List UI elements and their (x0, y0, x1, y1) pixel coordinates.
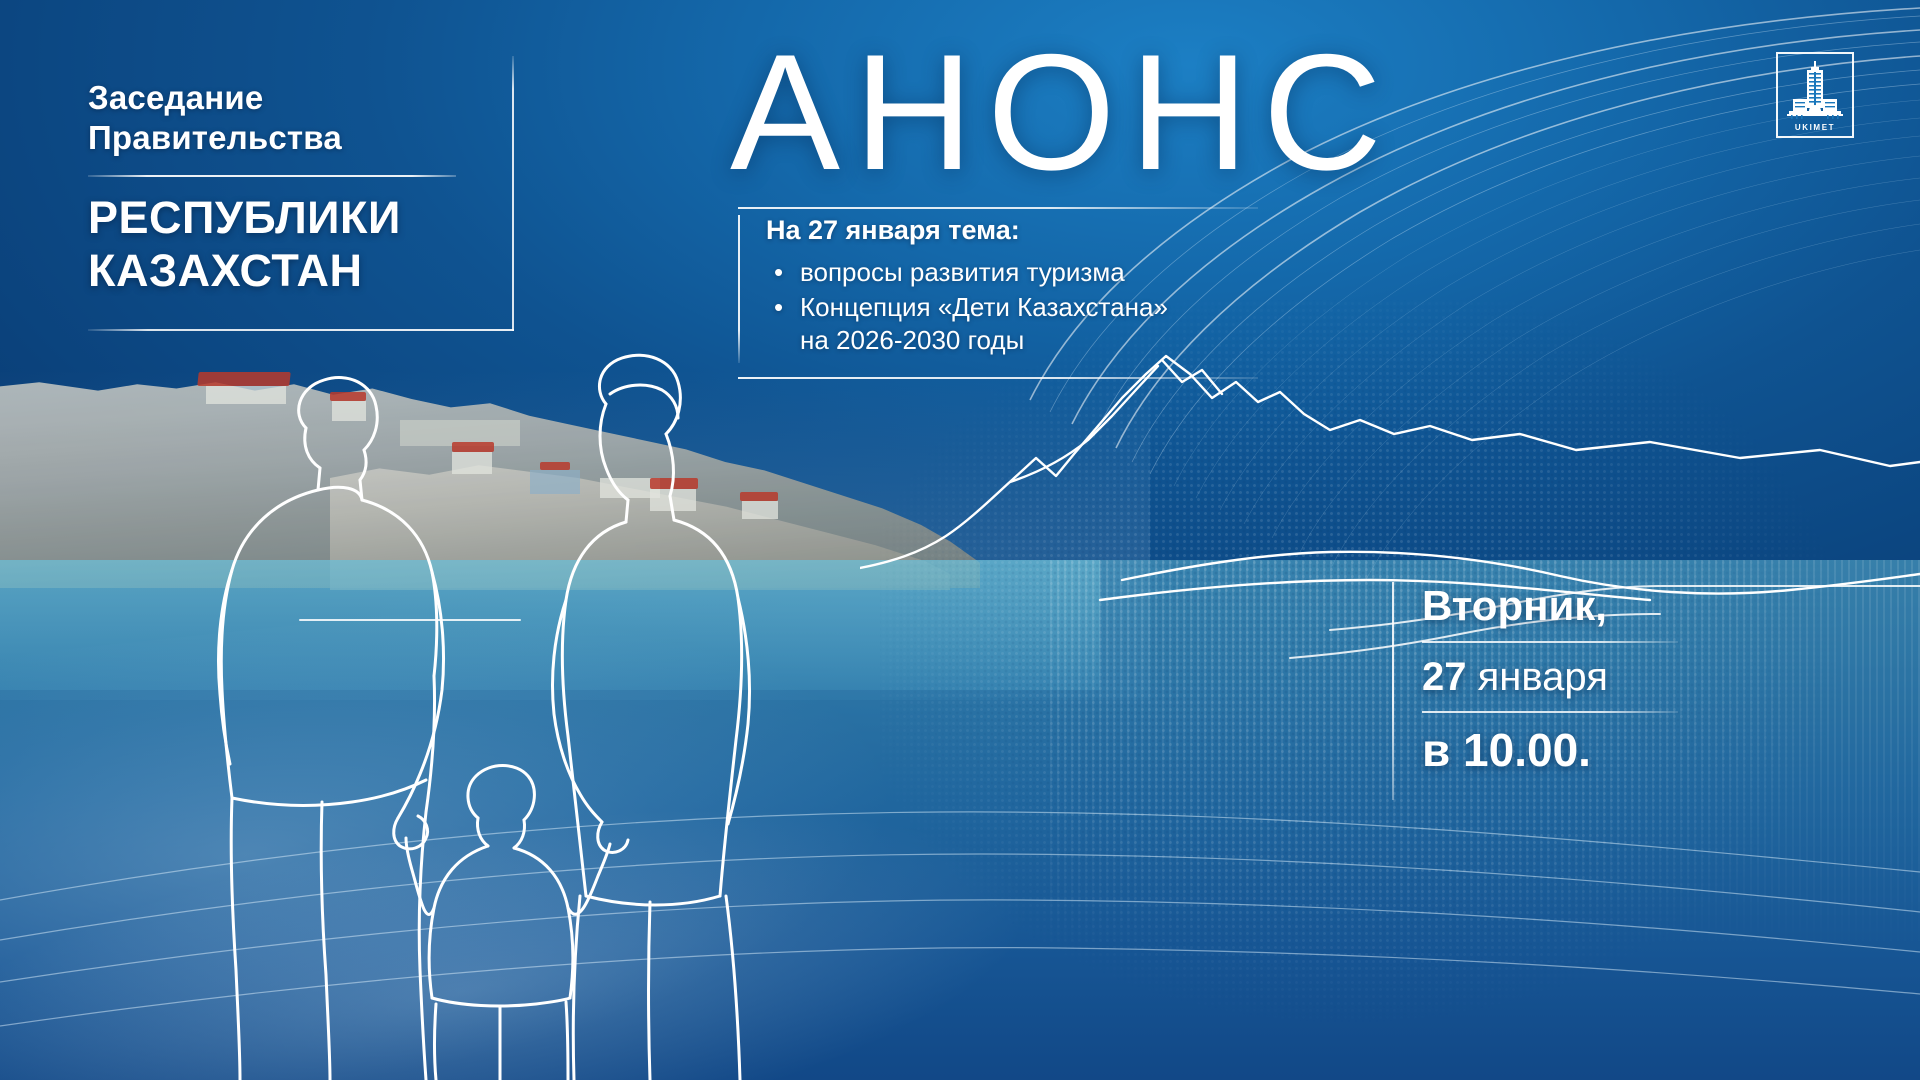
country-title-line1: РЕСПУБЛИКИ (88, 191, 528, 244)
announcement-poster: Заседание Правительства РЕСПУБЛИКИ КАЗАХ… (0, 0, 1920, 1080)
date-divider-rule-top (1422, 641, 1678, 643)
list-item-text: вопросы развития туризма (800, 257, 1125, 287)
bullet-icon: • (774, 256, 783, 289)
country-title-line2: КАЗАХСТАН (88, 244, 528, 297)
date-day-number: 27 (1422, 655, 1467, 699)
red-roof-building (197, 372, 290, 386)
topic-vertical-rule (738, 215, 740, 363)
country-title: РЕСПУБЛИКИ КАЗАХСТАН (88, 191, 528, 297)
shoreline-building (206, 386, 286, 404)
title-bracket-horizontal (88, 329, 514, 331)
topic-title: На 27 января тема: (766, 215, 1298, 246)
topic-list: • вопросы развития туризма • Концепция «… (766, 256, 1298, 356)
date-full: 27 января (1422, 654, 1702, 700)
meeting-subtitle: Заседание Правительства (88, 78, 528, 159)
logo-label: UKIMET (1795, 123, 1835, 132)
headline-anons: АНОНС (730, 30, 1390, 195)
red-roof-building (452, 442, 494, 452)
date-block: Вторник, 27 января в 10.00. (1392, 582, 1702, 777)
shoreline-building (742, 501, 778, 519)
government-house-icon (1785, 59, 1845, 121)
topic-block: На 27 января тема: • вопросы развития ту… (738, 215, 1298, 358)
date-month: января (1478, 655, 1608, 699)
list-item-text-continued: на 2026-2030 годы (800, 324, 1298, 357)
left-title-block: Заседание Правительства РЕСПУБЛИКИ КАЗАХ… (88, 78, 528, 297)
topic-top-rule (738, 207, 1258, 209)
shoreline-building (530, 470, 580, 494)
date-divider-rule-bottom (1422, 711, 1678, 713)
red-roof-building (540, 462, 570, 470)
title-bracket-vertical (512, 56, 514, 331)
red-roof-building (330, 392, 366, 401)
title-divider-rule (88, 175, 456, 177)
red-roof-building (740, 492, 778, 501)
list-item: • вопросы развития туризма (766, 256, 1298, 289)
date-time: в 10.00. (1422, 724, 1702, 777)
shoreline-building (452, 452, 492, 474)
shoreline-building (650, 489, 696, 511)
ukimet-logo: UKIMET (1776, 52, 1854, 138)
bullet-icon: • (774, 291, 783, 324)
meeting-subtitle-line2: Правительства (88, 118, 528, 158)
date-vertical-rule (1392, 582, 1394, 800)
topic-bottom-rule (738, 377, 1258, 379)
shoreline-building (332, 401, 366, 421)
list-item-text: Концепция «Дети Казахстана» (800, 292, 1168, 322)
list-item: • Концепция «Дети Казахстана» на 2026-20… (766, 291, 1298, 357)
date-day-of-week: Вторник, (1422, 582, 1702, 630)
meeting-subtitle-line1: Заседание (88, 78, 528, 118)
red-roof-building (650, 478, 698, 489)
